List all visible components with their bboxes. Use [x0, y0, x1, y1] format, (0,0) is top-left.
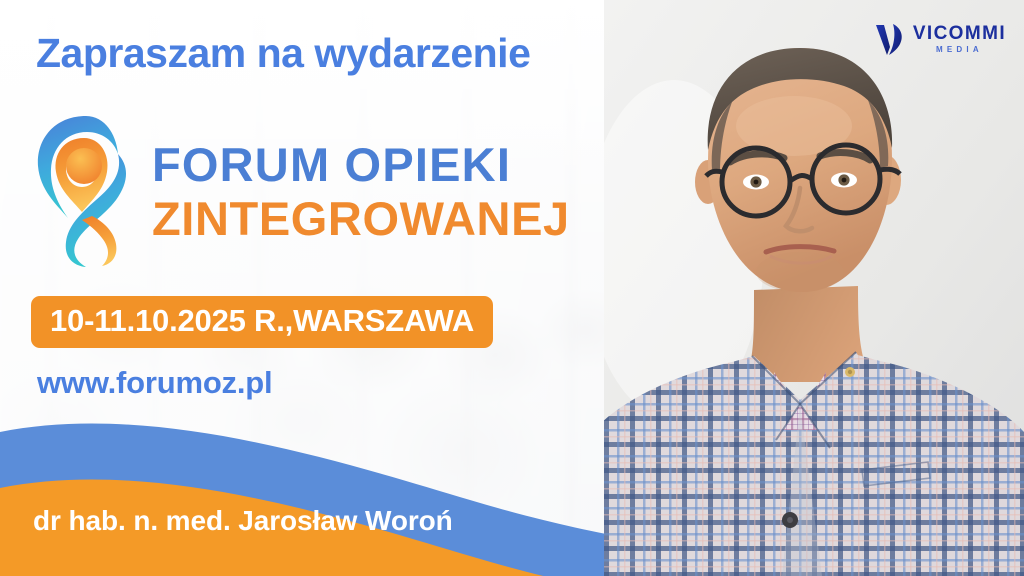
event-logo: FORUM OPIEKI ZINTEGROWANEJ — [30, 108, 570, 268]
event-logo-wordmark: FORUM OPIEKI ZINTEGROWANEJ — [152, 135, 570, 242]
vicommi-name: VICOMMI — [913, 24, 1006, 43]
vicommi-subtitle: MEDIA — [913, 46, 1006, 54]
date-location-badge: 10-11.10.2025 R.,WARSZAWA — [31, 296, 493, 348]
vicommi-media-logo: VICOMMI MEDIA — [875, 22, 1006, 56]
website-url[interactable]: www.forumoz.pl — [37, 365, 272, 401]
event-logo-line-1: FORUM OPIEKI — [152, 141, 570, 188]
event-promo-banner: Zapraszam na wydarzenie — [0, 0, 1024, 576]
forum-opieki-zintegrowanej-logo-mark — [30, 108, 138, 268]
speaker-name: dr hab. n. med. Jarosław Woroń — [33, 505, 453, 537]
headline-text: Zapraszam na wydarzenie — [36, 30, 530, 77]
bottom-wave-decoration — [0, 396, 700, 576]
vicommi-v-monogram — [875, 22, 905, 56]
event-logo-line-2: ZINTEGROWANEJ — [152, 195, 570, 242]
vicommi-wordmark: VICOMMI MEDIA — [913, 24, 1006, 54]
speaker-portrait — [604, 0, 1024, 576]
